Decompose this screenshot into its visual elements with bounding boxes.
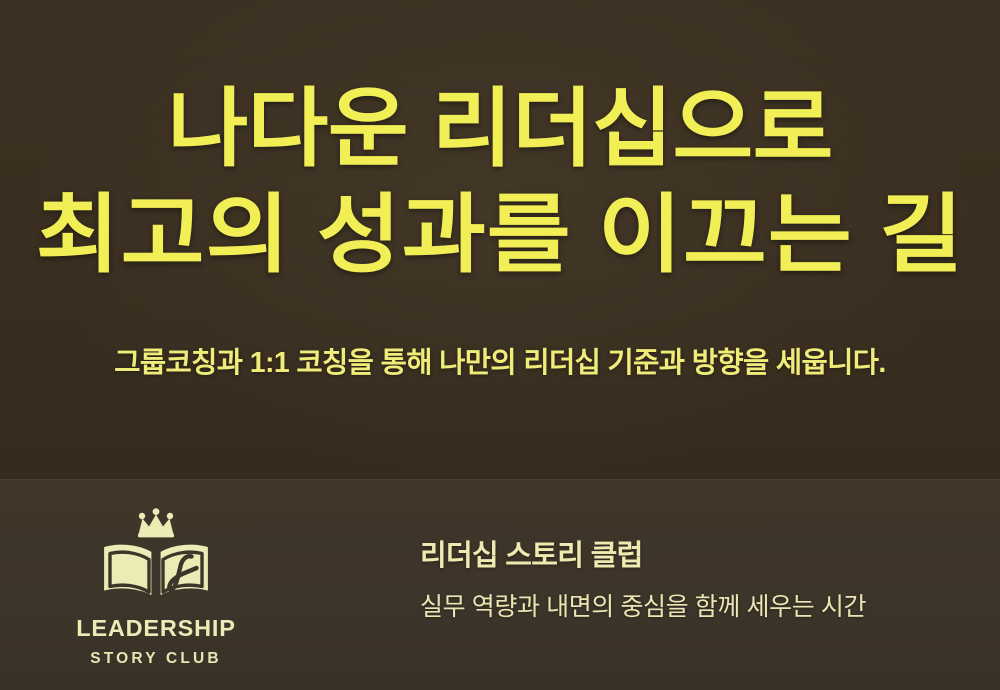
footer-title: 리더십 스토리 클럽 <box>420 541 866 573</box>
footer-subtitle: 실무 역량과 내면의 중심을 함께 세우는 시간 <box>420 593 866 622</box>
logo-wordmark: LEADERSHIP <box>76 617 235 641</box>
logo-subwordmark: STORY CLUB <box>90 651 222 667</box>
footer-text-block: 리더십 스토리 클럽 실무 역량과 내면의 중심을 함께 세우는 시간 <box>420 541 866 622</box>
hero-section: 나다운 리더십으로 최고의 성과를 이끄는 길 그룹코칭과 1:1 코칭을 통해… <box>0 0 1000 479</box>
headline-line-2: 최고의 성과를 이끄는 길 <box>36 192 964 278</box>
hero-subtitle: 그룹코칭과 1:1 코칭을 통해 나만의 리더십 기준과 방향을 세웁니다. <box>114 340 885 381</box>
promo-banner: 나다운 리더십으로 최고의 성과를 이끄는 길 그룹코칭과 1:1 코칭을 통해… <box>0 0 1000 690</box>
crowned-open-book-logo-icon <box>93 501 219 613</box>
headline-line-1: 나다운 리더십으로 <box>167 86 832 172</box>
brand-logo: LEADERSHIP STORY CLUB <box>62 501 250 666</box>
footer-section: LEADERSHIP STORY CLUB 리더십 스토리 클럽 실무 역량과 … <box>0 479 1000 690</box>
